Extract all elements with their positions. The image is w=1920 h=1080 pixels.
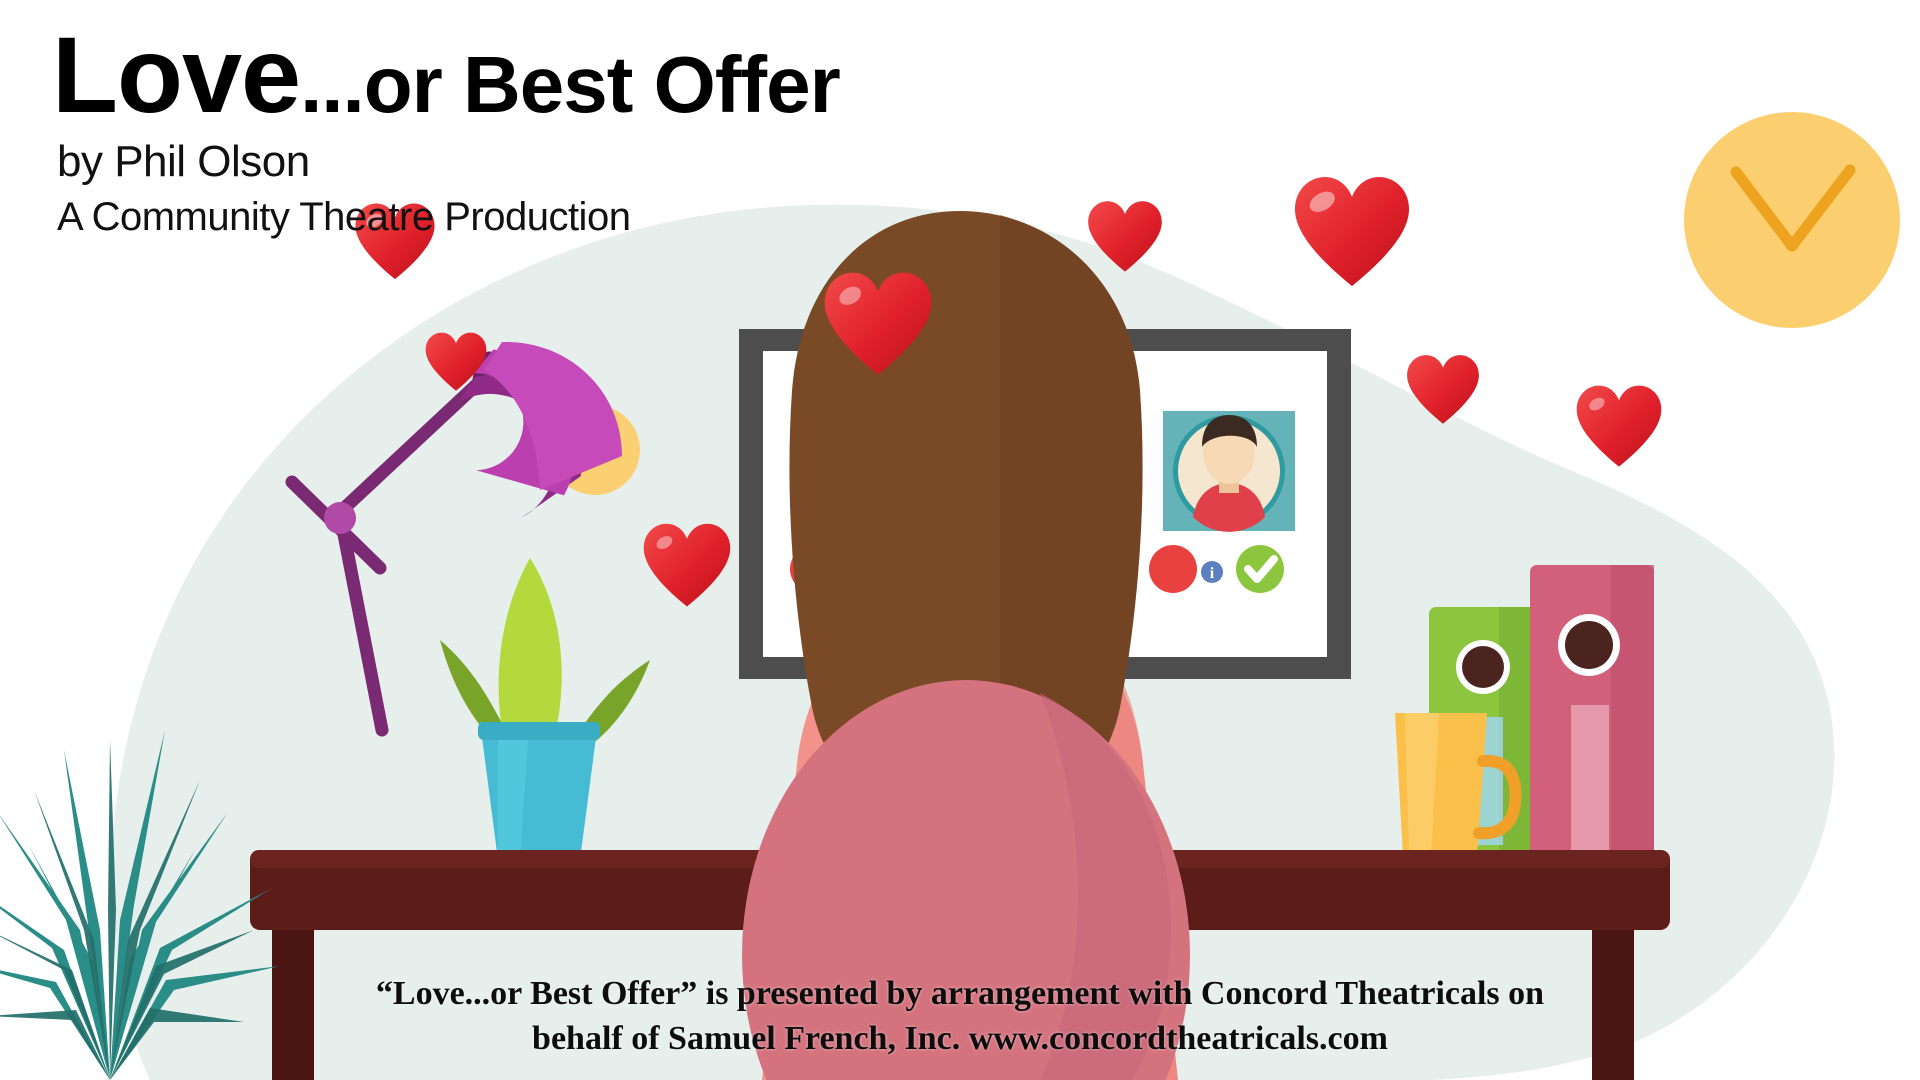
clock-face [1684,112,1900,328]
subtitle: A Community Theatre Production [57,195,840,240]
person-at-desk [600,195,1340,1080]
heart-icon [1290,172,1414,296]
heart-icon [423,330,489,396]
wall-clock [1652,108,1920,348]
heart-icon [1573,382,1665,474]
title-block: Love...or Best Offer by Phil Olson A Com… [52,24,840,240]
binder-pink-shadow [1611,565,1654,859]
title-word-rest: ...or Best Offer [300,40,840,129]
lamp-joint [324,502,356,534]
poster-canvas: i i [0,0,1920,1080]
attribution-line-1: “Love...or Best Offer” is presented by a… [0,972,1920,1017]
page-title: Love...or Best Offer [52,24,840,127]
heart-icon [1085,198,1165,278]
attribution-line-2: behalf of Samuel French, Inc. www.concor… [0,1017,1920,1062]
heart-icon [820,268,936,384]
heart-icon [1404,352,1482,430]
byline: by Phil Olson [57,137,840,187]
heart-icon [640,520,734,614]
title-word-love: Love [52,14,300,135]
attribution-text: “Love...or Best Offer” is presented by a… [0,972,1920,1062]
desk-supplies [1395,545,1715,865]
binder-green-ring-inner [1462,646,1504,688]
binder-pink-ring-inner [1565,621,1613,669]
plant-pot-rim [478,722,600,740]
